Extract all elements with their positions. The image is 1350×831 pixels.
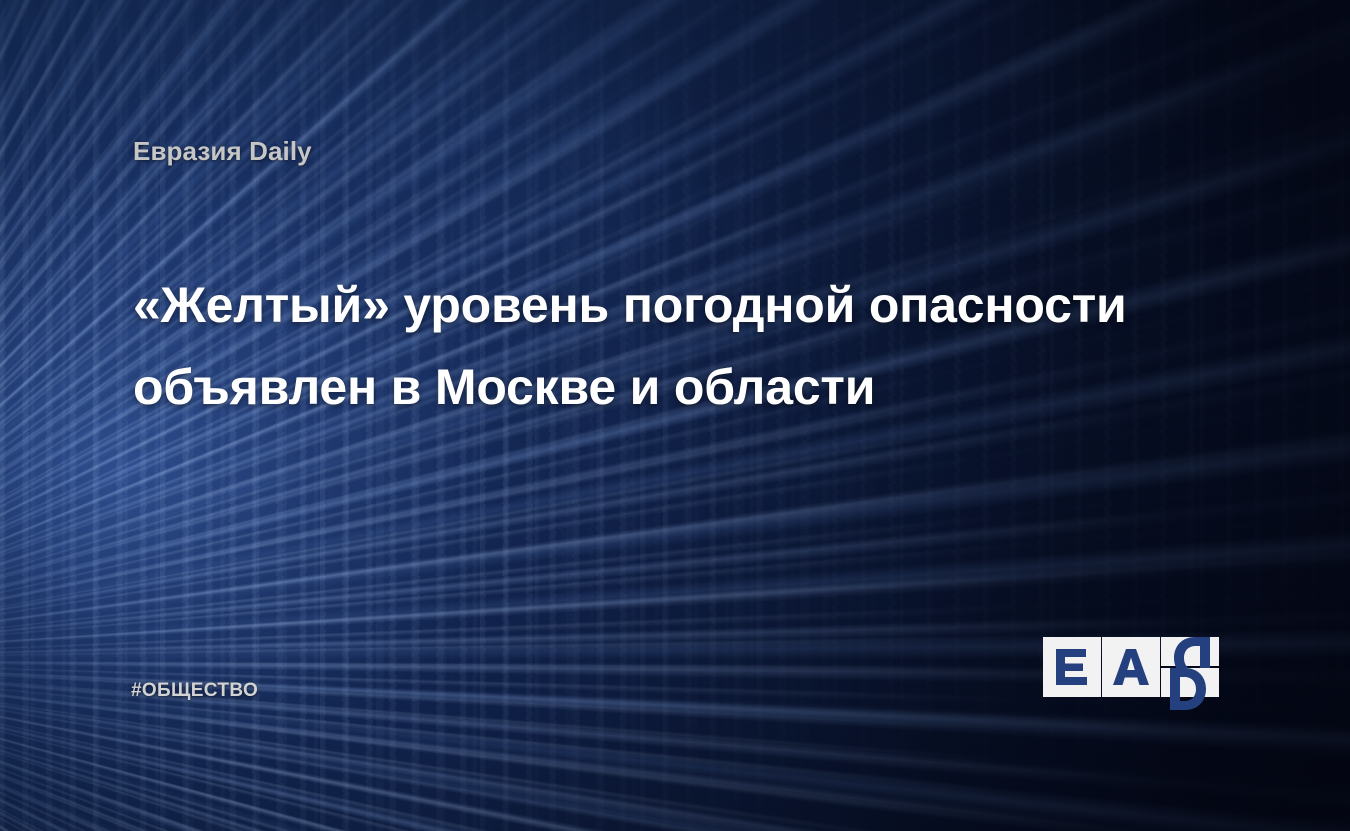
brand-title: Евразия Daily (133, 136, 312, 167)
logo-tile-e (1043, 637, 1101, 697)
category-hashtag: #ОБЩЕСТВО (131, 680, 258, 702)
logo-tile-d (1161, 637, 1219, 697)
ead-logo (1043, 637, 1221, 697)
headline-line-1: «Желтый» уровень погодной опасности (133, 264, 1243, 346)
logo-tile-a (1102, 637, 1160, 697)
headline-line-2: объявлен в Москве и области (133, 346, 1243, 428)
card-content: Евразия Daily «Желтый» уровень погодной … (0, 0, 1350, 831)
headline: «Желтый» уровень погодной опасности объя… (133, 264, 1243, 428)
news-card: Евразия Daily «Желтый» уровень погодной … (0, 0, 1350, 831)
logo-d-lower-half (1161, 668, 1219, 697)
logo-d-upper-half (1161, 637, 1219, 666)
